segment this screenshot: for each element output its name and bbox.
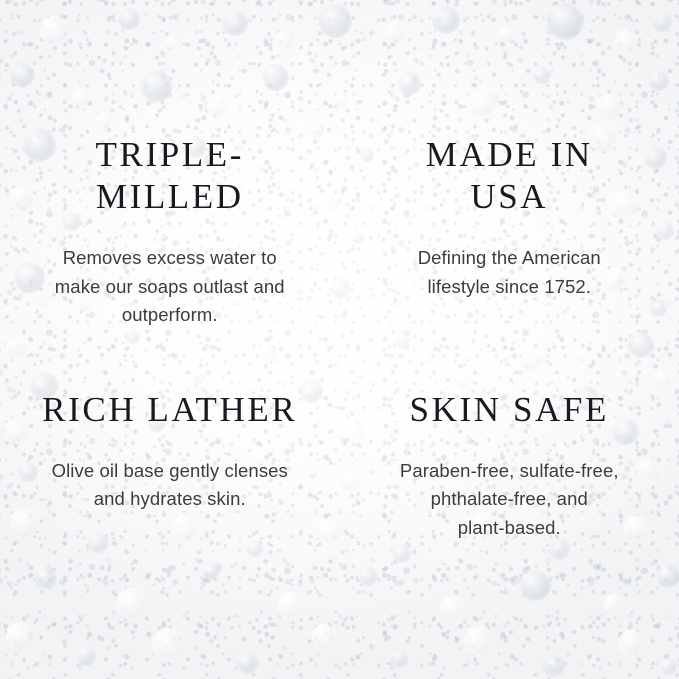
feature-description-made-in-usa: Defining the American lifestyle since 17… xyxy=(418,244,601,301)
feature-title-skin-safe: SKIN SAFE xyxy=(410,389,609,431)
feature-block-triple-milled: TRIPLE- MILLED Removes excess water to m… xyxy=(0,0,340,340)
feature-title-made-in-usa: MADE IN USA xyxy=(426,134,593,218)
feature-block-skin-safe: SKIN SAFE Paraben-free, sulfate-free, ph… xyxy=(340,340,679,679)
feature-description-skin-safe: Paraben-free, sulfate-free, phthalate-fr… xyxy=(400,457,619,543)
feature-title-triple-milled: TRIPLE- MILLED xyxy=(96,134,244,218)
feature-description-rich-lather: Olive oil base gently clenses and hydrat… xyxy=(52,457,288,514)
feature-block-rich-lather: RICH LATHER Olive oil base gently clense… xyxy=(0,340,340,679)
feature-description-triple-milled: Removes excess water to make our soaps o… xyxy=(55,244,285,330)
feature-block-made-in-usa: MADE IN USA Defining the American lifest… xyxy=(340,0,679,340)
feature-panel: TRIPLE- MILLED Removes excess water to m… xyxy=(0,0,679,679)
feature-grid: TRIPLE- MILLED Removes excess water to m… xyxy=(0,0,679,679)
feature-title-rich-lather: RICH LATHER xyxy=(42,389,297,431)
